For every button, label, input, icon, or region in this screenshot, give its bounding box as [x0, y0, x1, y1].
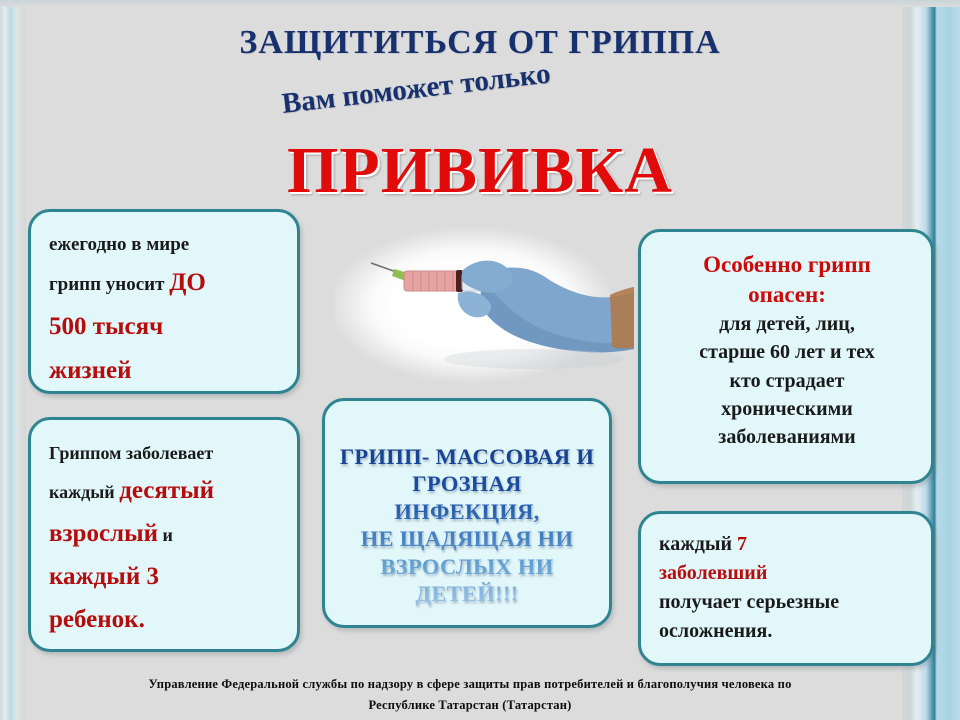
- line-5-accent: ребенок.: [49, 598, 281, 641]
- risk-groups-body-line-5: заболеваниями: [659, 423, 915, 451]
- line-5: ДЕТЕЙ!!!: [337, 580, 597, 607]
- fact-box-complications: каждый 7 заболевший получает серьезные о…: [638, 511, 934, 666]
- line-1: Гриппом заболевает: [49, 438, 281, 469]
- poster-heading-primary: ЗАЩИТИТЬСЯ ОТ ГРИППА: [0, 24, 960, 62]
- accent-tenth: десятый: [119, 477, 214, 504]
- poster-heading-secondary: Вам поможет только: [280, 58, 552, 121]
- fact-box-mass-infection-text: ГРИПП- МАССОВАЯ И ГРОЗНАЯ ИНФЕКЦИЯ, НЕ Щ…: [325, 401, 609, 608]
- fact-box-global-deaths: ежегодно в мире грипп уносит ДО 500 тыся…: [28, 209, 300, 394]
- line-2-accent: заболевший: [659, 559, 915, 588]
- left-edge-stripe: [0, 0, 26, 720]
- line-3: НЕ ЩАДЯЩАЯ НИ: [337, 525, 597, 552]
- line-4: ВЗРОСЛЫХ НИ: [337, 553, 597, 580]
- risk-groups-body-line-4: хроническими: [659, 395, 915, 423]
- footer-line-2: Республике Татарстан (Татарстан): [30, 695, 910, 716]
- poster-heading-keyword: ПРИВИВКА: [0, 133, 960, 209]
- fact-box-incidence-rate-text: Гриппом заболевает каждый десятый взросл…: [31, 420, 297, 641]
- risk-groups-body-line-1: для детей, лиц,: [659, 310, 915, 338]
- line-3: взрослый и: [49, 512, 281, 555]
- line-1: каждый 7: [659, 530, 915, 559]
- fact-box-complications-text: каждый 7 заболевший получает серьезные о…: [641, 514, 931, 646]
- fact-box-risk-groups-text: Особенно грипп опасен: для детей, лиц, с…: [641, 232, 931, 452]
- line-4-accent: жизней: [49, 349, 281, 393]
- fact-box-mass-infection: ГРИПП- МАССОВАЯ И ГРОЗНАЯ ИНФЕКЦИЯ, НЕ Щ…: [322, 398, 612, 628]
- footer-line-1: Управление Федеральной службы по надзору…: [30, 674, 910, 695]
- risk-groups-body-line-2: старше 60 лет и тех: [659, 338, 915, 366]
- line-2: каждый десятый: [49, 469, 281, 512]
- fact-box-incidence-rate: Гриппом заболевает каждый десятый взросл…: [28, 417, 300, 652]
- accent-adult: взрослый: [49, 520, 158, 547]
- line-2: грипп уносит ДО: [49, 261, 281, 305]
- line-4: осложнения.: [659, 617, 915, 646]
- top-edge-stripe: [0, 0, 960, 7]
- gloved-hand-holding-syringe-icon: [334, 219, 634, 391]
- line-2: ГРОЗНАЯ ИНФЕКЦИЯ,: [337, 470, 597, 525]
- fact-box-risk-groups: Особенно грипп опасен: для детей, лиц, с…: [638, 229, 934, 484]
- line-3: получает серьезные: [659, 588, 915, 617]
- fact-box-global-deaths-text: ежегодно в мире грипп уносит ДО 500 тыся…: [31, 212, 297, 393]
- line-3-accent: 500 тысяч: [49, 305, 281, 349]
- line-1: ежегодно в мире: [49, 228, 281, 261]
- line-4-accent: каждый 3: [49, 555, 281, 598]
- accent-do: ДО: [169, 269, 206, 296]
- risk-groups-title-line-2: опасен:: [659, 280, 915, 310]
- risk-groups-body-line-3: кто страдает: [659, 367, 915, 395]
- footer-agency-credit: Управление Федеральной службы по надзору…: [30, 674, 910, 715]
- accent-seven: 7: [737, 533, 747, 555]
- line-1: ГРИПП- МАССОВАЯ И: [337, 443, 597, 470]
- risk-groups-title-line-1: Особенно грипп: [659, 250, 915, 280]
- syringe-illustration: [334, 219, 634, 391]
